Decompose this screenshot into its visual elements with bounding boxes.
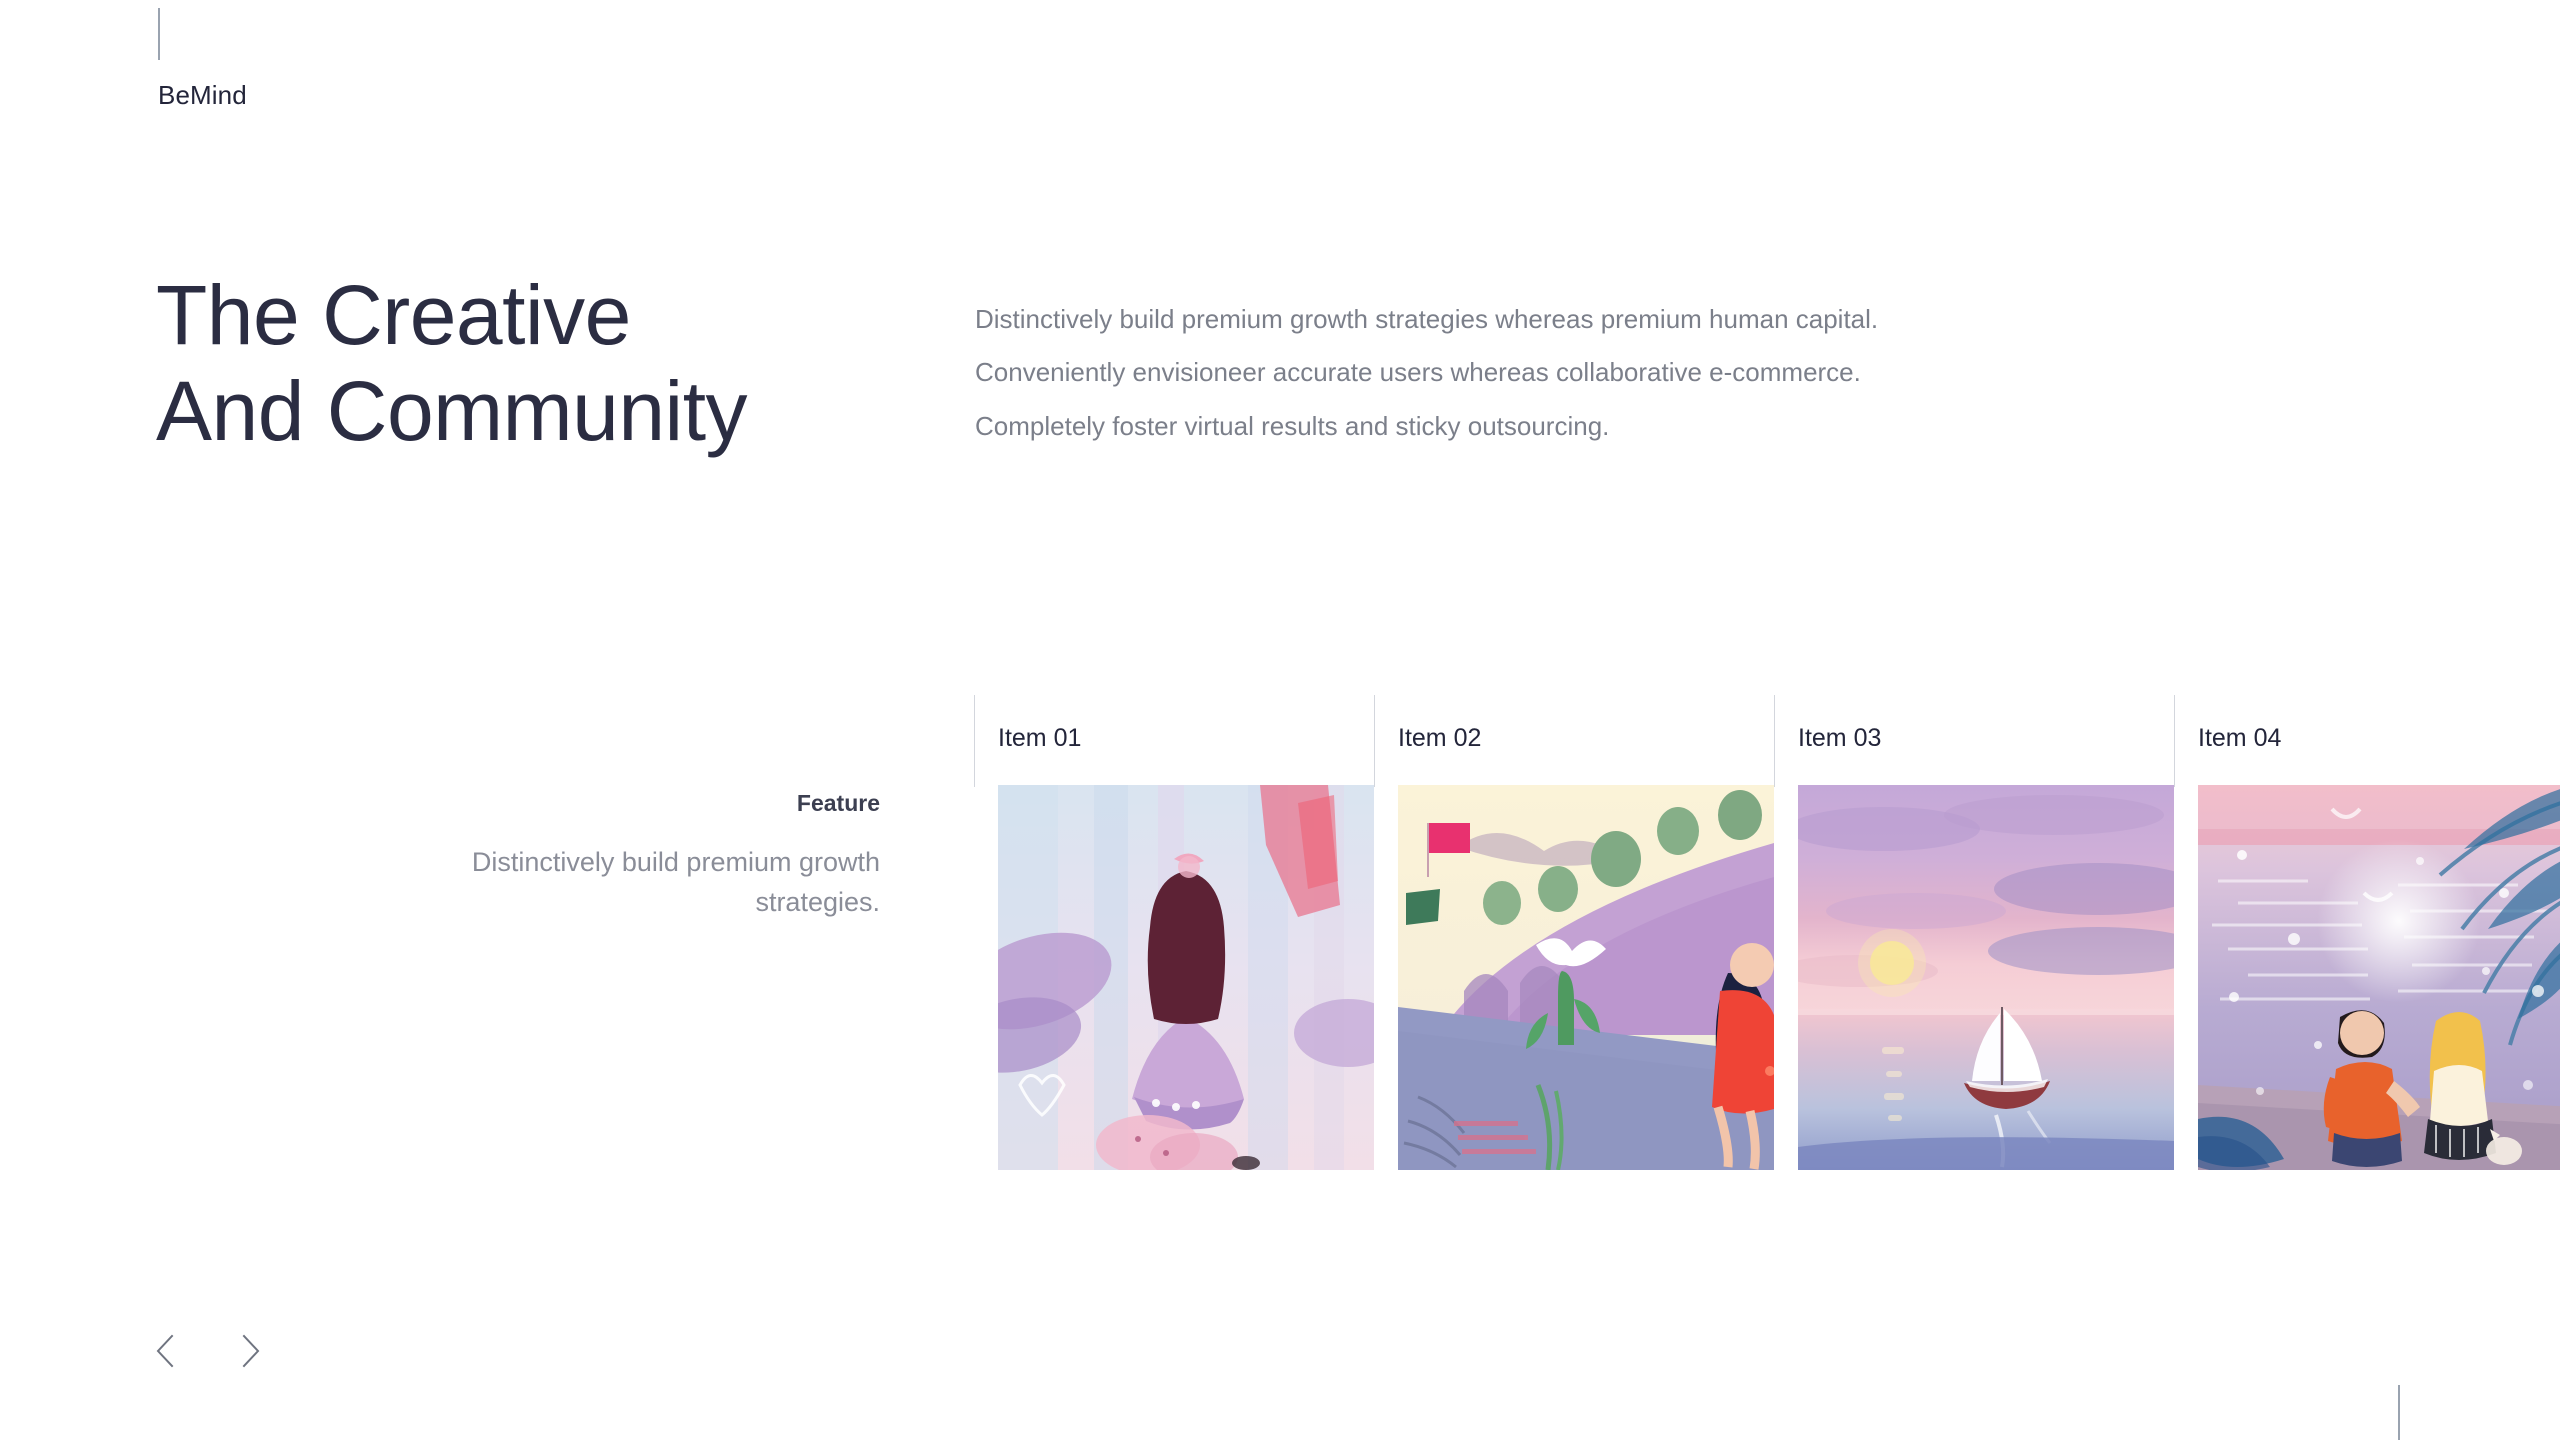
card-divider [2174,695,2175,787]
hero-paragraph: Distinctively build premium growth strat… [975,293,2155,453]
page-indicator-rule [2398,1385,2400,1440]
chevron-right-icon [232,1330,266,1372]
page-title: The Creative And Community [156,268,747,460]
feature-label: Feature [430,790,880,818]
carousel-card[interactable]: Item 04 [2174,692,2560,1174]
card-divider [974,695,975,787]
feature-block: Feature Distinctively build premium grow… [430,790,880,923]
carousel-card[interactable]: Item 02 [1374,692,1774,1174]
card-image-two-children-on-dock-night[interactable] [2198,785,2560,1170]
brand-name: BeMind [158,82,247,108]
card-image-girl-in-red-dress-hillside-path[interactable] [1398,785,1774,1170]
hero-paragraph-line: Completely foster virtual results and st… [975,400,2155,453]
slide-canvas: BeMind The Creative And Community Distin… [0,0,2560,1440]
hero-paragraph-line: Distinctively build premium growth strat… [975,293,2155,346]
feature-description: Distinctively build premium growth strat… [430,842,880,923]
brand: BeMind [158,8,247,108]
card-label: Item 01 [998,726,1081,751]
card-image-sailboat-at-sunset-sea[interactable] [1798,785,2174,1170]
brand-rule-icon [158,8,160,60]
carousel[interactable]: Item 01 [974,692,2560,1174]
hero-paragraph-line: Conveniently envisioneer accurate users … [975,346,2155,399]
carousel-next-button[interactable] [232,1330,266,1372]
carousel-nav[interactable] [150,1330,266,1372]
card-label: Item 03 [1798,726,1881,751]
card-label: Item 04 [2198,726,2281,751]
chevron-left-icon [150,1330,184,1372]
card-divider [1774,695,1775,787]
card-label: Item 02 [1398,726,1481,751]
card-image-girl-in-pink-dress-forest[interactable] [998,785,1374,1170]
carousel-card[interactable]: Item 01 [974,692,1374,1174]
carousel-prev-button[interactable] [150,1330,184,1372]
carousel-card[interactable]: Item 03 [1774,692,2174,1174]
card-divider [1374,695,1375,787]
